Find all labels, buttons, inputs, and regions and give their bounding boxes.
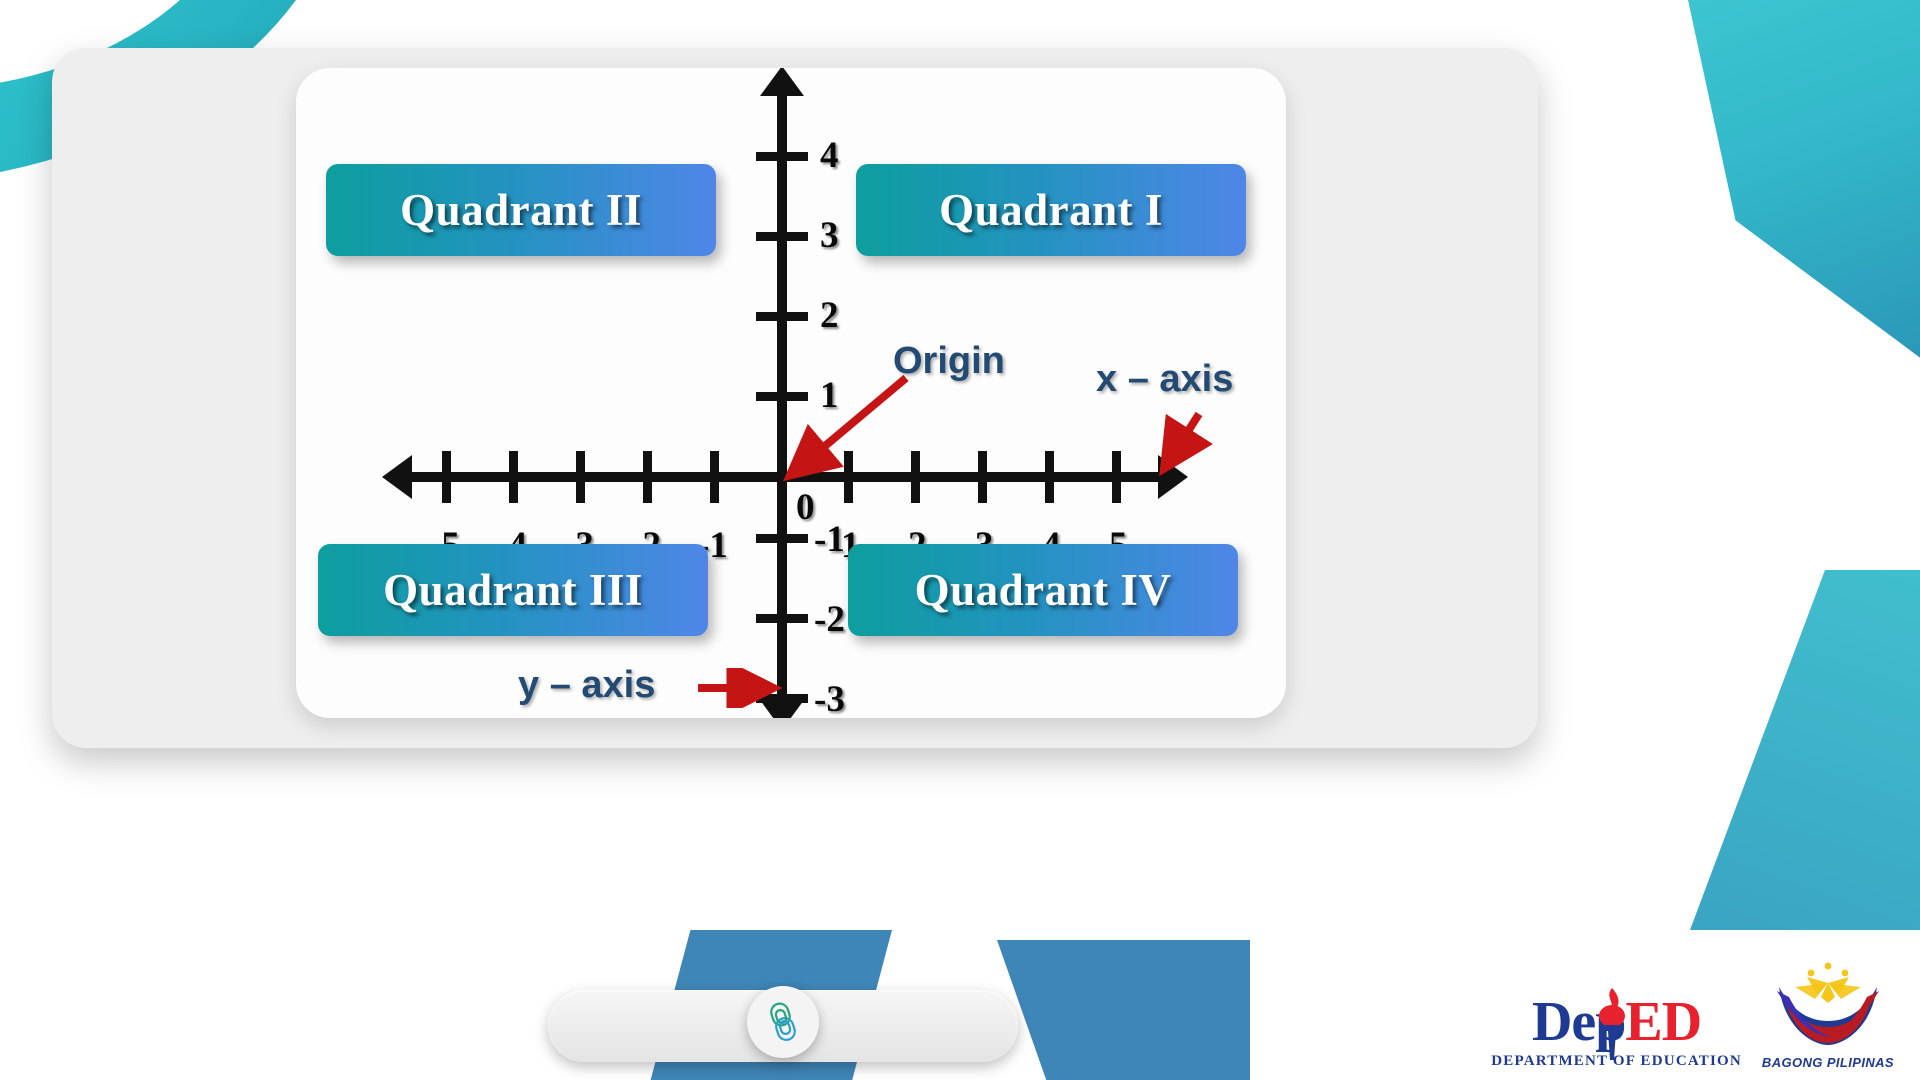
quadrant-ii-label: Quadrant II (400, 184, 642, 236)
cartesian-plane: 4 3 2 1 -1 -2 -3 -4 0 -5 -4 -3 -2 -1 1 2… (296, 68, 1286, 718)
x-tick-5 (1112, 451, 1121, 503)
quadrant-iii-box[interactable]: Quadrant III (318, 544, 708, 636)
y-axis-annotation-label: y – axis (518, 664, 655, 707)
x-axis-annotation-label: x – axis (1096, 358, 1233, 401)
x-tick-3 (978, 451, 987, 503)
footer-logos: DepED DEPARTMENT OF EDUCATION (1491, 957, 1894, 1070)
quadrant-iv-box[interactable]: Quadrant IV (848, 544, 1238, 636)
quadrant-ii-box[interactable]: Quadrant II (326, 164, 716, 256)
quadrant-i-label: Quadrant I (939, 184, 1163, 236)
y-tick--1 (756, 534, 808, 543)
decor-corner-top-right (1620, 0, 1920, 380)
origin-arrow-icon (766, 368, 916, 493)
quadrant-i-box[interactable]: Quadrant I (856, 164, 1246, 256)
chain-link-badge[interactable] (747, 986, 819, 1058)
y-label--2: -2 (814, 598, 845, 641)
y-label-2: 2 (820, 294, 839, 337)
x-tick--4 (509, 451, 518, 503)
x-tick-4 (1045, 451, 1054, 503)
y-tick-2 (756, 312, 808, 321)
x-tick--5 (442, 451, 451, 503)
y-axis-up-arrow-icon (760, 68, 804, 96)
coordinate-plane-panel: 4 3 2 1 -1 -2 -3 -4 0 -5 -4 -3 -2 -1 1 2… (296, 68, 1286, 718)
x-tick--1 (710, 451, 719, 503)
y-tick-4 (756, 152, 808, 161)
x-tick--3 (576, 451, 585, 503)
y-label-4: 4 (820, 134, 839, 177)
deped-torch-icon (1589, 986, 1635, 1064)
y-label-3: 3 (820, 214, 839, 257)
bagong-pilipinas-label: BAGONG PILIPINAS (1762, 1055, 1894, 1070)
quadrant-iv-label: Quadrant IV (915, 564, 1172, 616)
bagong-pilipinas-logo: BAGONG PILIPINAS (1762, 957, 1894, 1070)
y-tick--2 (756, 614, 808, 623)
y-tick-3 (756, 232, 808, 241)
deped-ed-text: ED (1625, 991, 1701, 1053)
deped-logo: DepED DEPARTMENT OF EDUCATION (1491, 994, 1742, 1070)
decor-corner-bottom-right (1660, 570, 1920, 930)
x-tick--2 (643, 451, 652, 503)
x-axis-arrow-icon (1141, 406, 1231, 496)
x-axis-left-arrow-icon (382, 455, 412, 499)
y-axis-arrow-icon (694, 668, 794, 708)
chain-link-icon (760, 999, 806, 1045)
quadrant-iii-label: Quadrant III (383, 564, 643, 616)
y-label--3: -3 (814, 678, 845, 718)
bagong-pilipinas-icon (1769, 957, 1887, 1049)
